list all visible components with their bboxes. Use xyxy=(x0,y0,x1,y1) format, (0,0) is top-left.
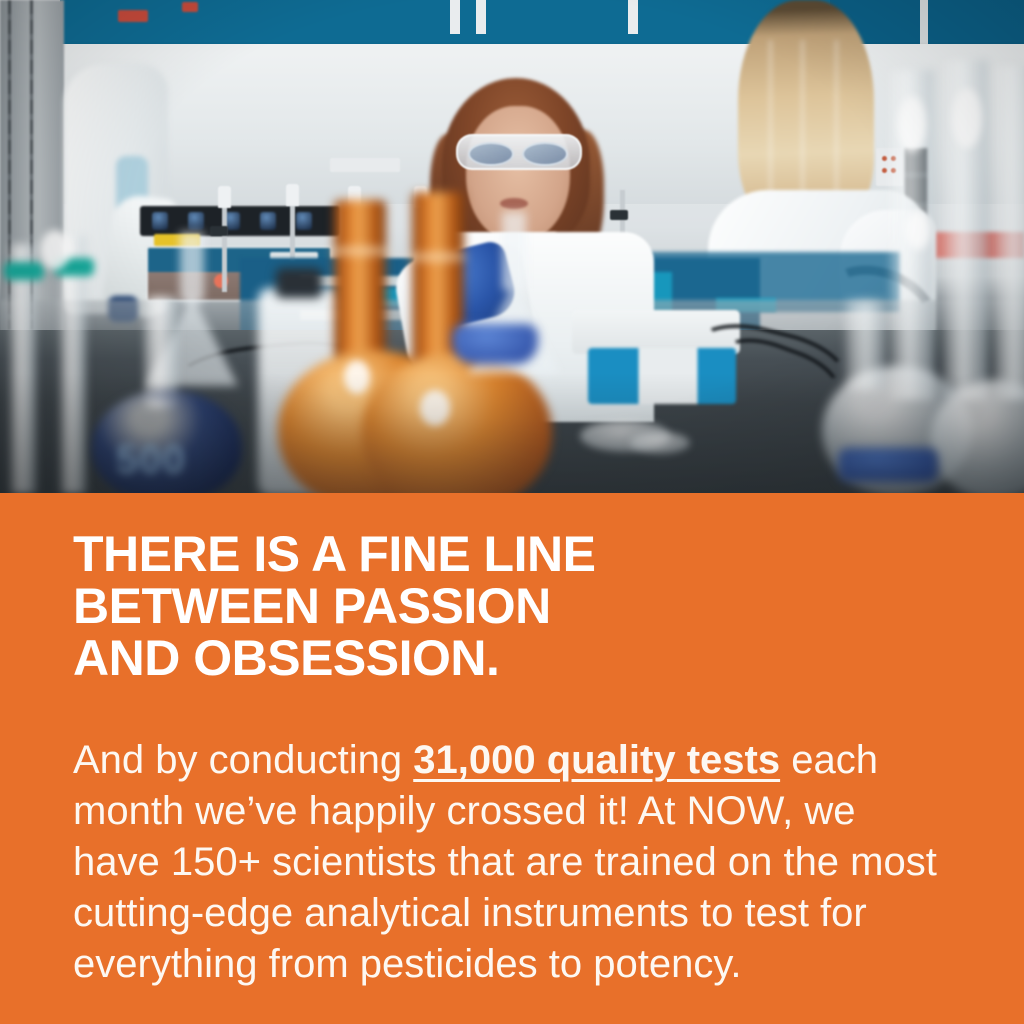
glass-highlight xyxy=(898,96,926,152)
box-red-label xyxy=(118,10,148,22)
social-media-card: 500 xyxy=(0,0,1024,1024)
page-title: THERE IS A FINE LINE BETWEEN PASSION AND… xyxy=(73,528,953,684)
body-paragraph: And by conducting 31,000 quality tests e… xyxy=(73,735,948,990)
glass-highlight xyxy=(40,230,70,270)
wall-rail xyxy=(330,158,400,172)
cabinet-divider xyxy=(450,0,460,34)
watch-glass xyxy=(630,432,690,454)
safety-goggles xyxy=(456,134,582,170)
pipette-cap xyxy=(4,262,44,280)
pipette-foreground xyxy=(10,244,36,493)
cabinet-divider xyxy=(628,0,638,34)
cabinet-divider xyxy=(476,0,486,34)
burette-column-foreground xyxy=(994,66,1024,400)
burette-cap xyxy=(218,186,231,208)
box-red-label xyxy=(182,2,198,12)
flask-neck xyxy=(846,300,886,390)
flask-volume-label: 500 xyxy=(116,438,186,483)
quality-tests-highlight: 31,000 quality tests xyxy=(413,738,780,782)
glass-highlight xyxy=(420,390,450,426)
volumetric-flask-500: 500 xyxy=(86,296,246,493)
glass-highlight xyxy=(906,210,930,250)
laboratory-photo: 500 xyxy=(0,0,1024,493)
body-text-before: And by conducting xyxy=(73,738,413,782)
burette-cap xyxy=(286,184,299,206)
glass-highlight xyxy=(344,360,370,394)
blue-liquid-in-flask xyxy=(452,324,538,364)
glass-highlight xyxy=(952,88,982,148)
blue-liquid-right xyxy=(838,448,938,482)
